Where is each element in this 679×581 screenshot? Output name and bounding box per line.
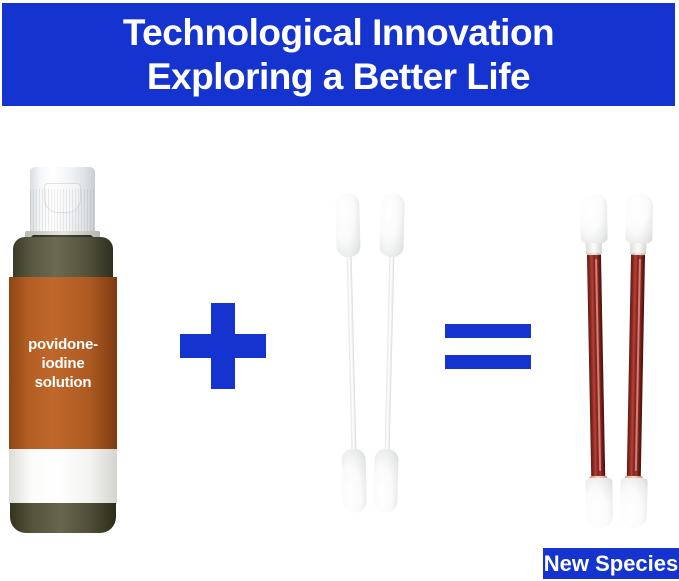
bottle-cap-ridges: [30, 189, 95, 233]
bottle-label-line-3: solution: [35, 374, 92, 391]
cotton-swab-right: [368, 193, 410, 514]
bottle-label-line-2: iodine: [42, 355, 85, 372]
bottle-label-line-1: povidone-: [28, 336, 98, 353]
iodine-swabstick-tip-top: [625, 193, 653, 244]
bottle-cap: [30, 167, 95, 235]
iodine-swabstick-right: [615, 193, 657, 529]
equals-lower-bar: [445, 355, 531, 369]
cotton-swab-tip-top: [379, 193, 405, 258]
plus-operator-icon: [180, 303, 266, 389]
new-species-badge-label: New Species: [544, 551, 679, 577]
equals-upper-bar: [445, 324, 531, 338]
iodine-swabsticks: [570, 193, 662, 538]
header-title-line-1: Technological Innovation: [123, 11, 554, 55]
iodine-swabstick-tip-bottom: [620, 478, 648, 529]
iodine-swabstick-tip-bottom: [585, 478, 613, 529]
iodine-swabstick-tip-top: [580, 193, 608, 244]
cotton-swab-tip-top: [335, 193, 361, 258]
bottle-label-text: povidone- iodine solution: [28, 335, 98, 392]
plus-vertical-bar: [211, 303, 235, 389]
bottle-label-white-band: [9, 449, 117, 504]
povidone-iodine-bottle: povidone- iodine solution: [5, 167, 119, 579]
header-title-line-2: Exploring a Better Life: [147, 55, 530, 99]
cotton-swabs: [318, 193, 404, 528]
bottle-label: povidone- iodine solution: [9, 277, 117, 449]
product-equation-row: povidone- iodine solution: [0, 105, 679, 545]
cotton-swab-left: [330, 193, 372, 514]
equals-operator-icon: [445, 324, 531, 369]
cotton-swab-tip-bottom: [341, 449, 367, 514]
new-species-badge: New Species: [543, 548, 679, 579]
iodine-swabstick-left: [575, 193, 617, 529]
bottle-base: [10, 503, 116, 533]
cotton-swab-tip-bottom: [373, 449, 399, 514]
header-banner: Technological Innovation Exploring a Bet…: [3, 4, 674, 105]
bottle-shoulder: [13, 237, 113, 279]
